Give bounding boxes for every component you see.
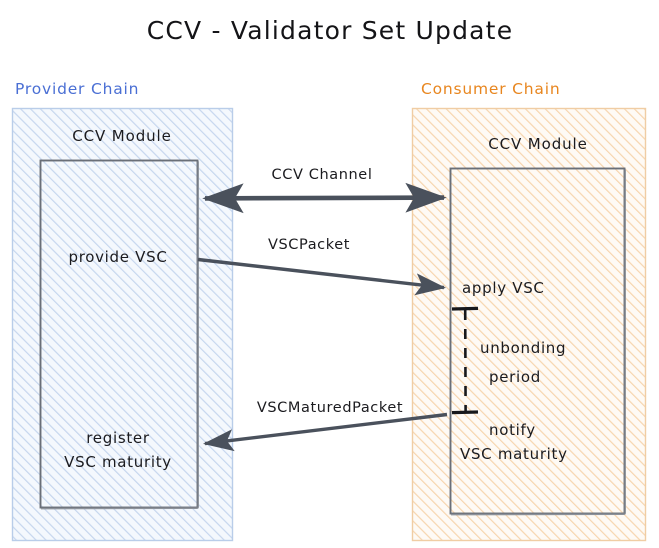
node-register-vsc-maturity-line2: VSC maturity xyxy=(64,454,172,472)
node-register-vsc-maturity-line1: register xyxy=(86,430,149,448)
edge-vsc-packet xyxy=(198,260,444,288)
edge-label-ccv-channel: CCV Channel xyxy=(272,167,373,184)
node-unbonding-period-line2: period xyxy=(489,369,541,387)
node-apply-vsc: apply VSC xyxy=(462,280,545,298)
provider-ccv-module-label: CCV Module xyxy=(72,128,172,146)
edge-ccv-channel xyxy=(205,198,444,199)
edge-label-vsc-matured-packet: VSCMaturedPacket xyxy=(257,400,403,417)
edge-label-vsc-packet: VSCPacket xyxy=(268,237,350,254)
node-provide-vsc: provide VSC xyxy=(68,249,167,267)
node-unbonding-period-line1: unbonding xyxy=(480,340,566,358)
node-notify-vsc-maturity-line1: notify xyxy=(489,422,536,440)
provider-chain-label: Provider Chain xyxy=(15,80,139,98)
consumer-ccv-module-label: CCV Module xyxy=(488,136,588,154)
diagram-canvas: CCV - Validator Set Update Provider Chai… xyxy=(0,0,659,548)
node-notify-vsc-maturity-line2: VSC maturity xyxy=(460,446,568,464)
consumer-chain-label: Consumer Chain xyxy=(421,80,560,98)
provider-chain-container xyxy=(13,109,233,541)
consumer-chain-container xyxy=(413,109,646,541)
page-title: CCV - Validator Set Update xyxy=(147,16,514,46)
edge-vsc-matured-packet xyxy=(205,415,447,444)
